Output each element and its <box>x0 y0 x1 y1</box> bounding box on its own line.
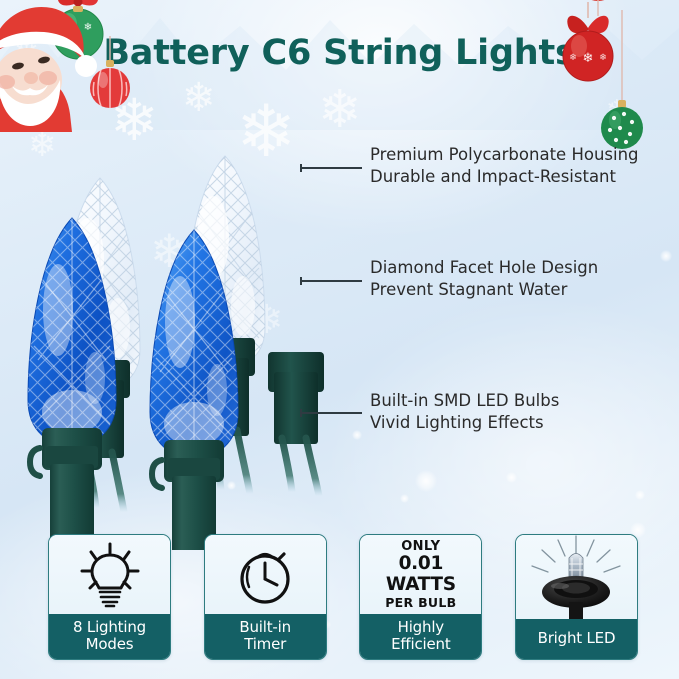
svg-text:❄: ❄ <box>569 53 577 63</box>
watts-value: 0.01 WATTS <box>362 554 479 595</box>
callout-housing-line1: Premium Polycarbonate Housing <box>370 145 639 164</box>
badge-timer-icon-area <box>205 535 326 614</box>
feature-badge-row: 8 Lighting Modes Built-in Timer <box>48 534 638 660</box>
callout-housing: Premium Polycarbonate Housing Durable an… <box>370 144 639 189</box>
badge-efficiency-label: Highly Efficient <box>360 614 481 659</box>
callout-smd-line2: Vivid Lighting Effects <box>370 412 559 434</box>
ornament-green-dotted-icon <box>596 10 648 155</box>
badge-timer-line1: Built-in <box>207 619 324 636</box>
badge-timer[interactable]: Built-in Timer <box>204 534 327 660</box>
socket-front-left <box>30 428 102 550</box>
badge-lighting-modes-line2: Modes <box>51 636 168 653</box>
bokeh-dot <box>415 470 437 492</box>
product-image-c6-string-lights <box>0 60 380 550</box>
svg-text:❄: ❄ <box>583 51 594 66</box>
badge-bright-led-label: Bright LED <box>516 619 637 659</box>
santa-icon <box>0 0 110 132</box>
badge-bright-led[interactable]: Bright LED <box>515 534 638 660</box>
badge-timer-label: Built-in Timer <box>205 614 326 659</box>
watts-per-label: PER BULB <box>362 596 479 610</box>
callout-smd: Built-in SMD LED Bulbs Vivid Lighting Ef… <box>370 390 559 435</box>
badge-efficiency[interactable]: ONLY 0.01 WATTS PER BULB Highly Efficien… <box>359 534 482 660</box>
callout-facet-line1: Diamond Facet Hole Design <box>370 258 598 277</box>
callout-smd-line1: Built-in SMD LED Bulbs <box>370 391 559 410</box>
led-diode-icon <box>524 535 628 619</box>
lightbulb-icon <box>79 542 141 608</box>
bokeh-dot <box>400 494 409 503</box>
watts-text: ONLY 0.01 WATTS PER BULB <box>360 540 481 610</box>
badge-lighting-modes[interactable]: 8 Lighting Modes <box>48 534 171 660</box>
badge-efficiency-line1: Highly <box>362 619 479 636</box>
bokeh-dot <box>635 490 645 500</box>
leader-line-smd <box>300 412 362 414</box>
badge-bright-led-icon-area <box>516 535 637 619</box>
bokeh-dot <box>506 472 517 483</box>
product-infographic: ❄ ❄ ❄ ❄ ❄ ❄ ❄ ❄ ❄ ❄ <box>0 0 679 679</box>
leader-line-housing <box>300 167 362 169</box>
badge-lighting-modes-line1: 8 Lighting <box>51 619 168 636</box>
badge-lighting-modes-icon-area <box>49 535 170 614</box>
callout-facet-line2: Prevent Stagnant Water <box>370 279 598 301</box>
socket-back-far-right <box>268 352 324 496</box>
leader-line-facet <box>300 280 362 282</box>
watts-only-label: ONLY <box>362 540 479 555</box>
badge-bright-led-line1: Bright LED <box>518 630 635 647</box>
clock-timer-icon <box>234 543 296 607</box>
badge-lighting-modes-label: 8 Lighting Modes <box>49 614 170 659</box>
badge-timer-line2: Timer <box>207 636 324 653</box>
bokeh-dot <box>660 250 672 262</box>
callout-housing-line2: Durable and Impact-Resistant <box>370 166 639 188</box>
badge-efficiency-line2: Efficient <box>362 636 479 653</box>
badge-efficiency-icon-area: ONLY 0.01 WATTS PER BULB <box>360 535 481 614</box>
callout-facet: Diamond Facet Hole Design Prevent Stagna… <box>370 257 598 302</box>
